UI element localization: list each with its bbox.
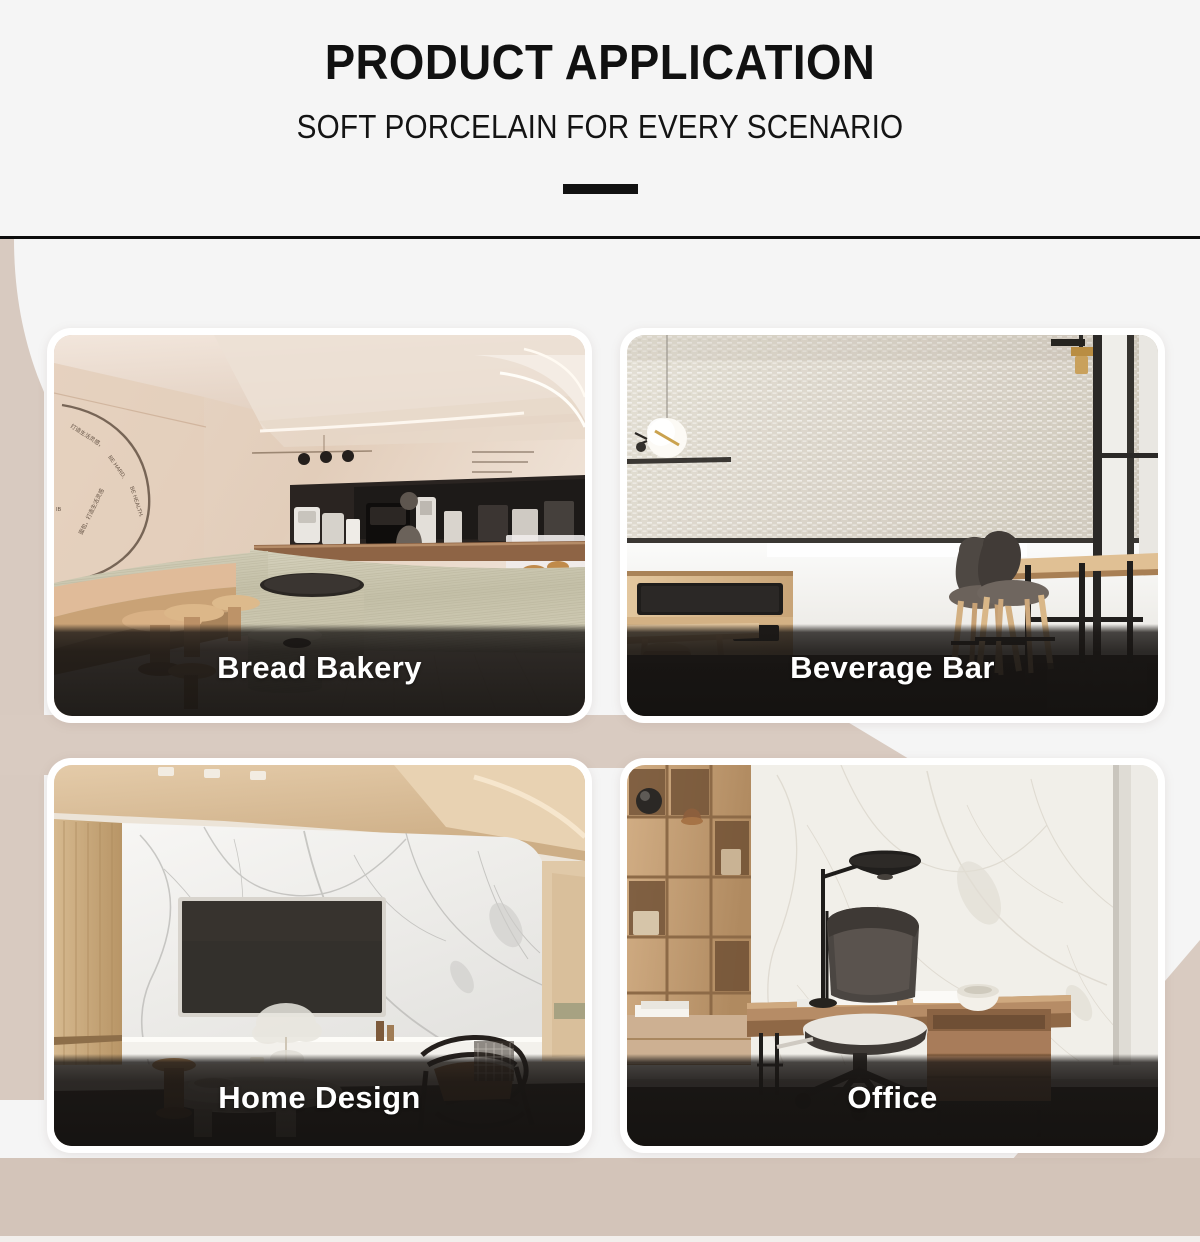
page-header: PRODUCT APPLICATION SOFT PORCELAIN FOR E… <box>0 0 1200 239</box>
page-subtitle: SOFT PORCELAIN FOR EVERY SCENARIO <box>60 108 1140 146</box>
page-title: PRODUCT APPLICATION <box>42 38 1158 89</box>
card-label-beverage-bar: Beverage Bar <box>627 624 1158 716</box>
card-image-frame: Beverage Bar <box>627 335 1158 716</box>
card-label-bread-bakery: Bread Bakery <box>54 624 585 716</box>
svg-text:IB: IB <box>56 507 62 513</box>
card-label-home-design: Home Design <box>54 1054 585 1146</box>
card-bread-bakery[interactable]: 打造生活灵感， BE HARD, BE HEALTH. 面包，打造生活灵感 IB <box>47 328 592 723</box>
card-image-frame: 打造生活灵感， BE HARD, BE HEALTH. 面包，打造生活灵感 IB <box>54 335 585 716</box>
title-divider-bar <box>563 184 638 194</box>
card-label-office: Office <box>627 1054 1158 1146</box>
card-image-frame: Office <box>627 765 1158 1146</box>
card-image-frame: Home Design <box>54 765 585 1146</box>
card-home-design[interactable]: Home Design <box>47 758 592 1153</box>
card-office[interactable]: Office <box>620 758 1165 1153</box>
header-horizontal-rule <box>0 236 1200 239</box>
card-beverage-bar[interactable]: Beverage Bar <box>620 328 1165 723</box>
